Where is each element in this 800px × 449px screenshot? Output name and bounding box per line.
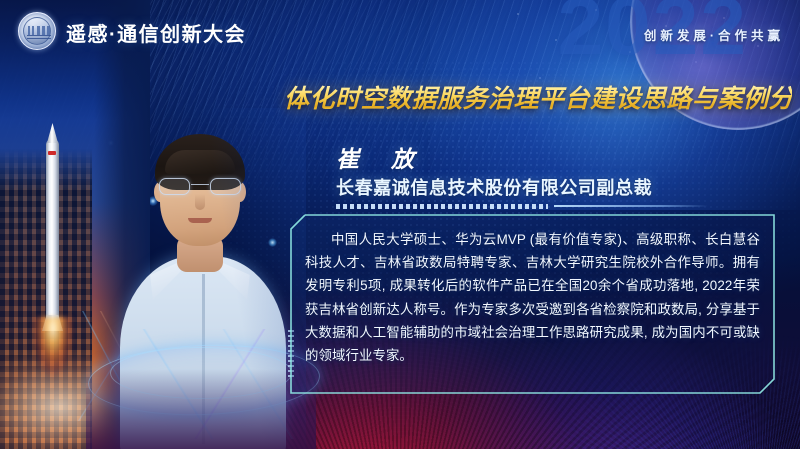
divider-line — [554, 205, 708, 206]
portrait-mouth — [188, 218, 212, 223]
glasses-icon — [158, 178, 242, 196]
speaker-name: 崔 放 — [336, 140, 426, 174]
divider-dashes — [336, 204, 548, 209]
conference-slogan: 创新发展·合作共赢 — [644, 25, 784, 44]
glasses-bridge — [191, 184, 209, 185]
glasses-lens-right — [210, 178, 241, 195]
conference-logo — [18, 12, 56, 50]
dashed-divider — [336, 203, 708, 209]
glasses-lens-left — [159, 178, 190, 195]
slide-header: 遥感·通信创新大会 创新发展·合作共赢 — [0, 0, 800, 58]
emblem-inner — [23, 17, 51, 45]
portrait-nose — [195, 194, 205, 210]
conference-name: 遥感·通信创新大会 — [66, 18, 246, 47]
presentation-slide: 2022 — [0, 0, 800, 449]
rocket-icon — [46, 139, 59, 329]
talk-title: 《一体化时空数据服务治理平台建设思路与案例分享》 — [286, 80, 792, 114]
speaker-portrait — [96, 108, 306, 449]
speaker-role: 长春嘉诚信息技术股份有限公司副总裁 — [336, 174, 652, 200]
speaker-bio: 中国人民大学硕士、华为云MVP (最有价值专家)、高级职称、长白慧谷科技人才、吉… — [305, 228, 760, 367]
portrait-bottom-fade — [86, 369, 316, 449]
conference-emblem-icon — [18, 12, 56, 50]
